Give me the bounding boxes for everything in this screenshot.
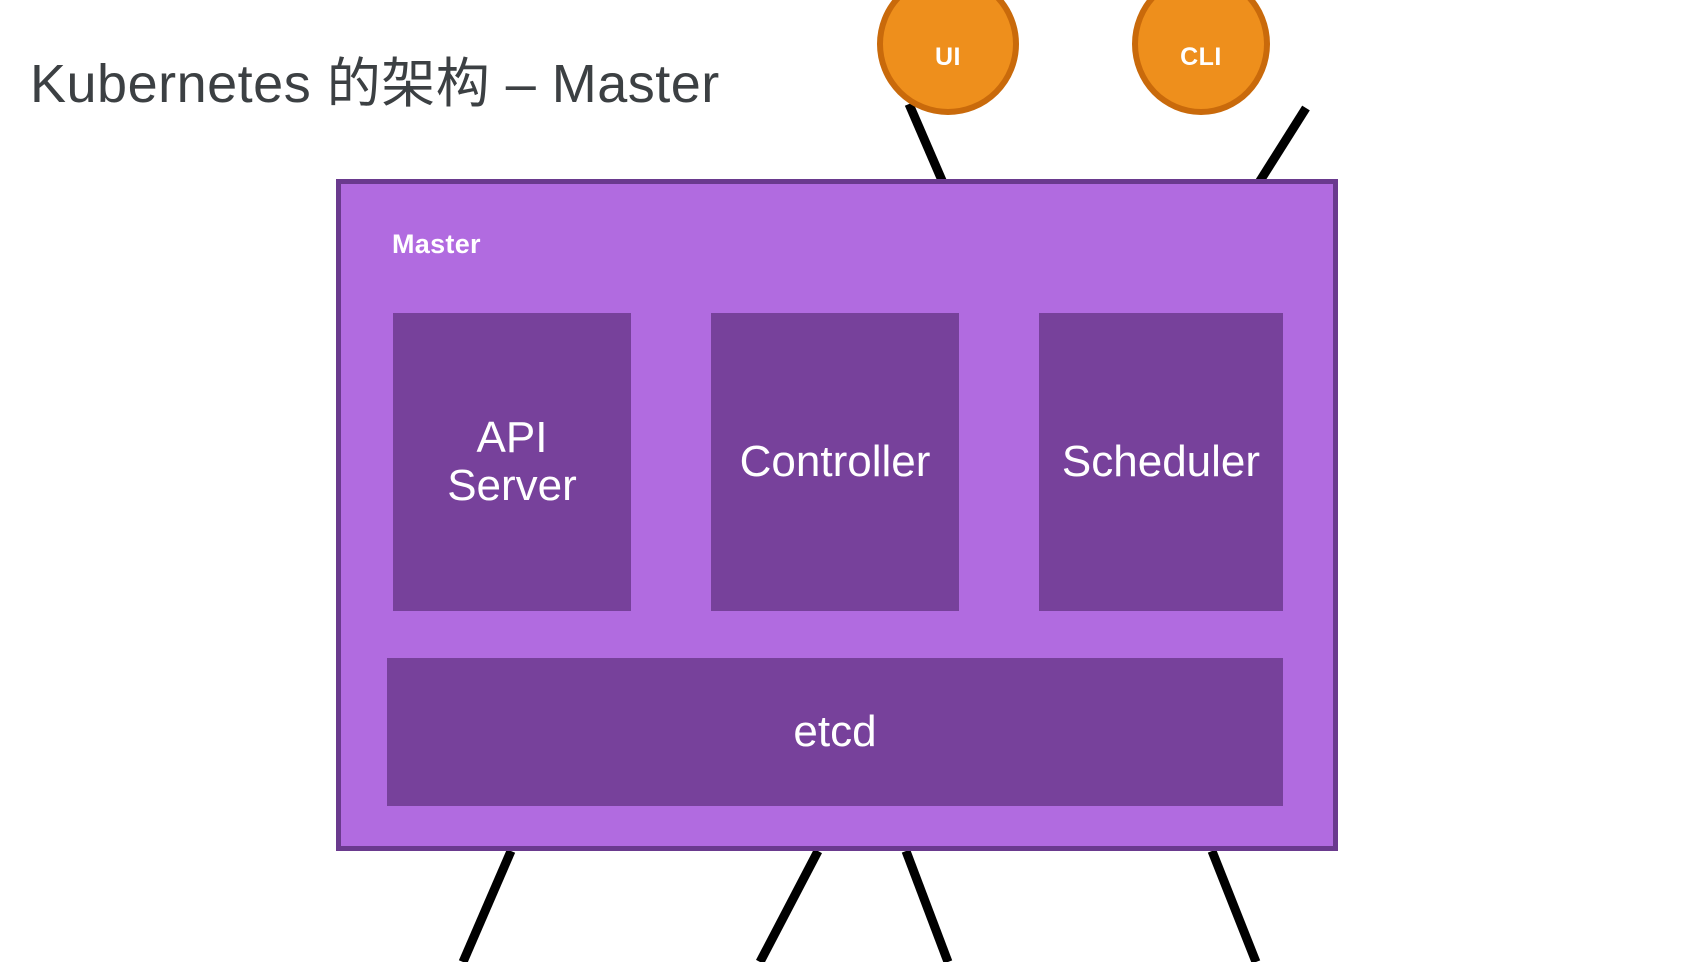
component-etcd-label: etcd: [793, 708, 876, 756]
component-etcd[interactable]: etcd: [387, 658, 1283, 806]
component-controller[interactable]: Controller: [711, 313, 959, 611]
client-node-cli-label: CLI: [1180, 43, 1222, 72]
client-node-ui-label: UI: [935, 43, 961, 72]
client-node-ui[interactable]: UI: [877, 0, 1019, 115]
component-controller-label: Controller: [740, 438, 931, 486]
master-container-label: Master: [392, 229, 481, 260]
connector-master-to-node-2: [760, 851, 818, 962]
component-scheduler-label: Scheduler: [1062, 438, 1260, 486]
slide-canvas: Kubernetes 的架构 – Master UI CLI Master AP…: [0, 0, 1683, 962]
connector-master-to-node-1: [463, 851, 511, 962]
component-api-server-label: API Server: [447, 414, 577, 509]
component-api-server-label-line1: API: [477, 413, 548, 462]
page-title: Kubernetes 的架构 – Master: [30, 52, 720, 117]
component-api-server-label-line2: Server: [447, 461, 577, 510]
connector-master-to-node-3: [906, 851, 948, 962]
connector-master-to-node-4: [1212, 851, 1256, 962]
component-scheduler[interactable]: Scheduler: [1039, 313, 1283, 611]
master-container[interactable]: Master API Server Controller Scheduler e…: [336, 179, 1338, 851]
client-node-cli[interactable]: CLI: [1132, 0, 1270, 115]
component-api-server[interactable]: API Server: [393, 313, 631, 611]
